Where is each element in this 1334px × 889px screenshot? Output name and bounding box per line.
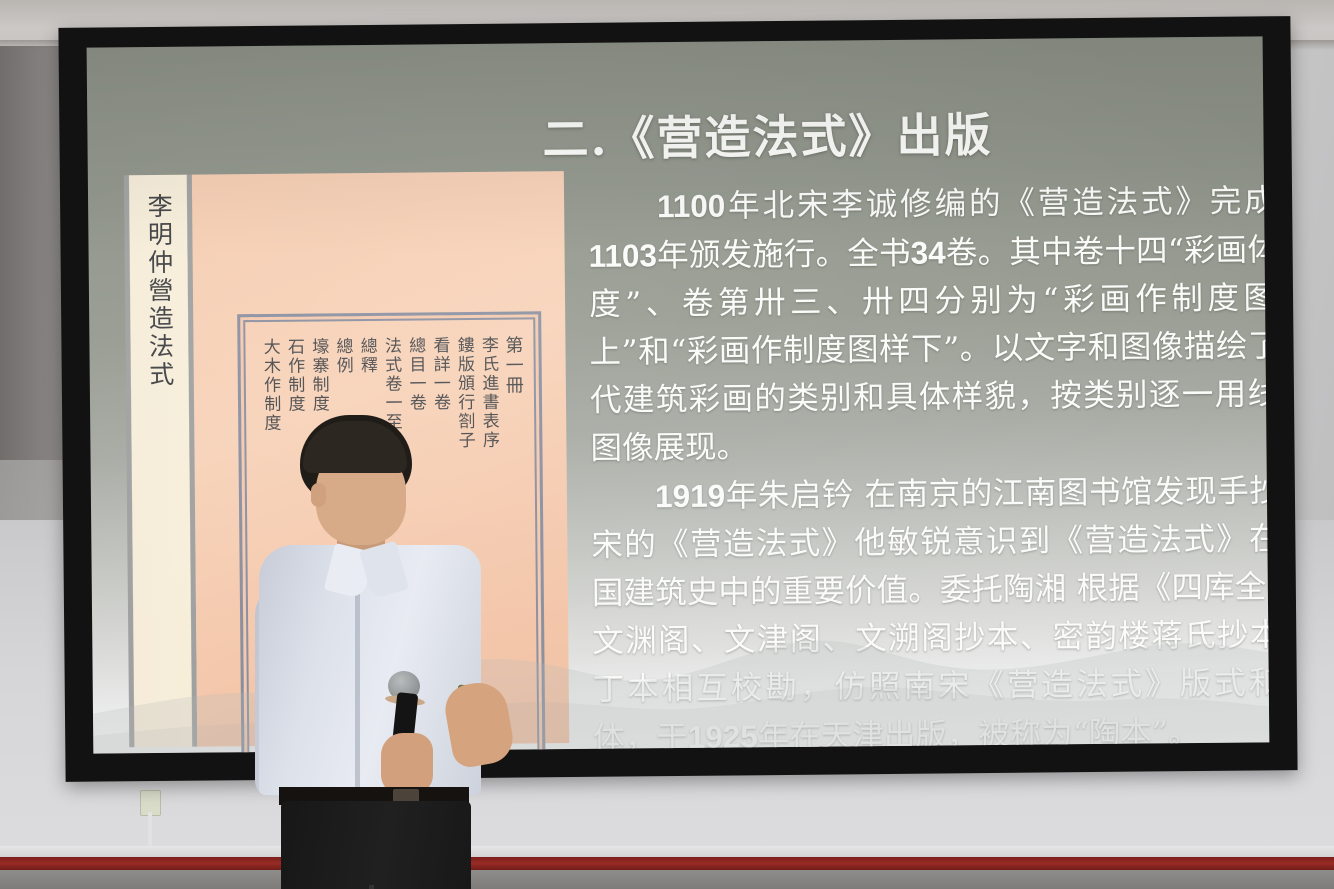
highlighted-number: 1100 — [657, 188, 726, 225]
book-spine-label: 李明仲營造法式 — [144, 193, 174, 433]
highlighted-number: 34 — [910, 234, 945, 270]
slide-title: 二.《营造法式》出版 — [487, 98, 1048, 169]
red-wall-stripe — [0, 857, 1334, 871]
presenter-ear — [311, 483, 326, 507]
floor — [0, 870, 1334, 889]
screenshot-root: 二.《营造法式》出版 李明仲營造法式 第一冊李氏進書表序鏤版頒行劄子看詳一卷總目… — [0, 0, 1334, 889]
shirt-placket — [355, 583, 360, 788]
highlighted-number: 1919 — [655, 478, 725, 515]
slide-paragraph: 1100年北宋李诚修编的《营造法式》完成，1103年颁发施行。全书34卷。其中卷… — [588, 176, 1269, 473]
paragraph-text: 年北宋李诚修编的《营造法式》完成， — [725, 183, 1269, 225]
paragraph-indent — [591, 479, 655, 516]
presenter-trousers — [281, 801, 471, 889]
trouser-crease — [369, 885, 374, 889]
paragraph-indent — [588, 189, 657, 226]
presenter-open-hand — [441, 678, 516, 770]
presenter-mic-hand — [381, 733, 433, 795]
highlighted-number: 1103 — [588, 237, 657, 274]
presenter — [243, 415, 543, 889]
paragraph-text: 年颁发施行。全书 — [657, 236, 911, 274]
